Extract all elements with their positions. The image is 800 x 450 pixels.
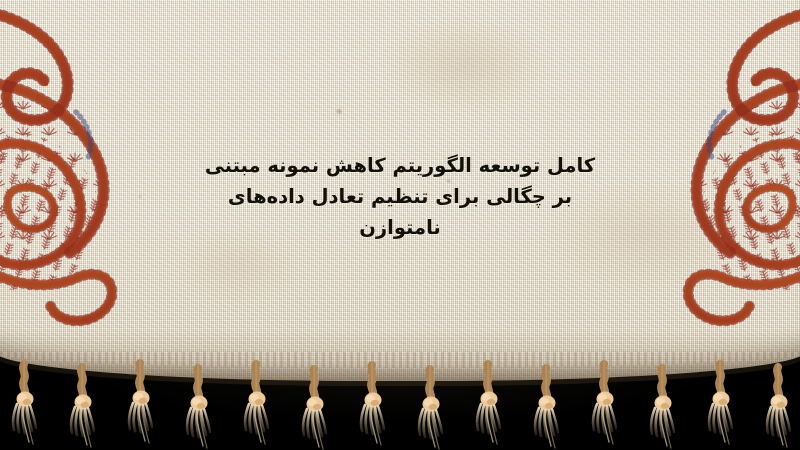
title-line-3: نامتوازن: [185, 212, 615, 243]
slide-title: کامل توسعه الگوریتم کاهش نمونه مبتنی بر …: [185, 150, 615, 243]
title-line-1: کامل توسعه الگوریتم کاهش نمونه مبتنی: [185, 150, 615, 181]
title-line-2: بر چگالی برای تنظیم تعادل داده‌های: [185, 181, 615, 212]
slide-canvas: کامل توسعه الگوریتم کاهش نمونه مبتنی بر …: [0, 0, 800, 450]
